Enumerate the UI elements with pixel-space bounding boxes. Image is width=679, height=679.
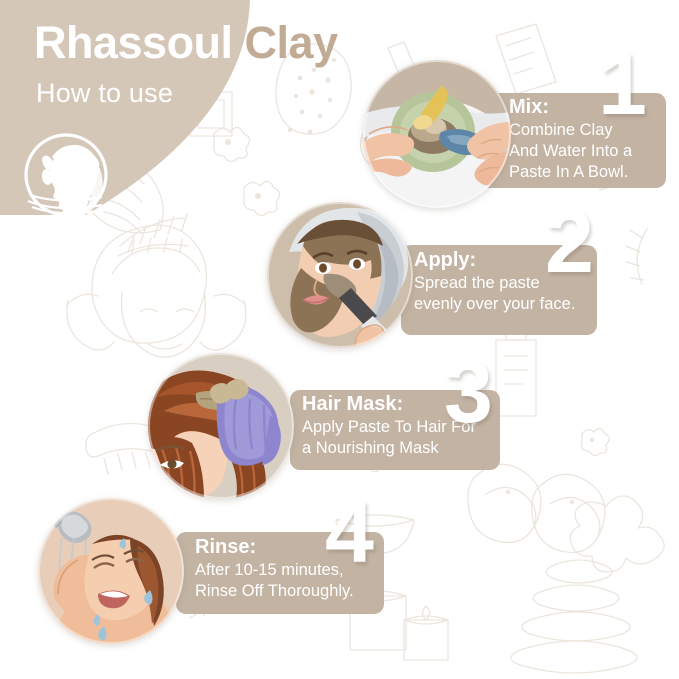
step-1-number: 1	[598, 40, 647, 128]
step-3-image	[148, 353, 294, 499]
step-2-image	[267, 202, 413, 348]
step-1-image	[363, 60, 511, 208]
step-4-number: 4	[325, 488, 374, 576]
page-title-svg: Rhassoul Clay Rhassoul Clay	[34, 16, 454, 72]
step-4-image	[38, 498, 184, 644]
page-title-wrap: Rhassoul Clay Rhassoul Clay	[34, 16, 454, 72]
step-3-number: 3	[444, 348, 493, 436]
step-2-number: 2	[545, 198, 594, 286]
page-subtitle: How to use	[36, 78, 173, 109]
infographic-root: Rhassoul Clay Rhassoul Clay How to use 1…	[0, 0, 679, 679]
brand-logo-icon	[22, 131, 110, 219]
